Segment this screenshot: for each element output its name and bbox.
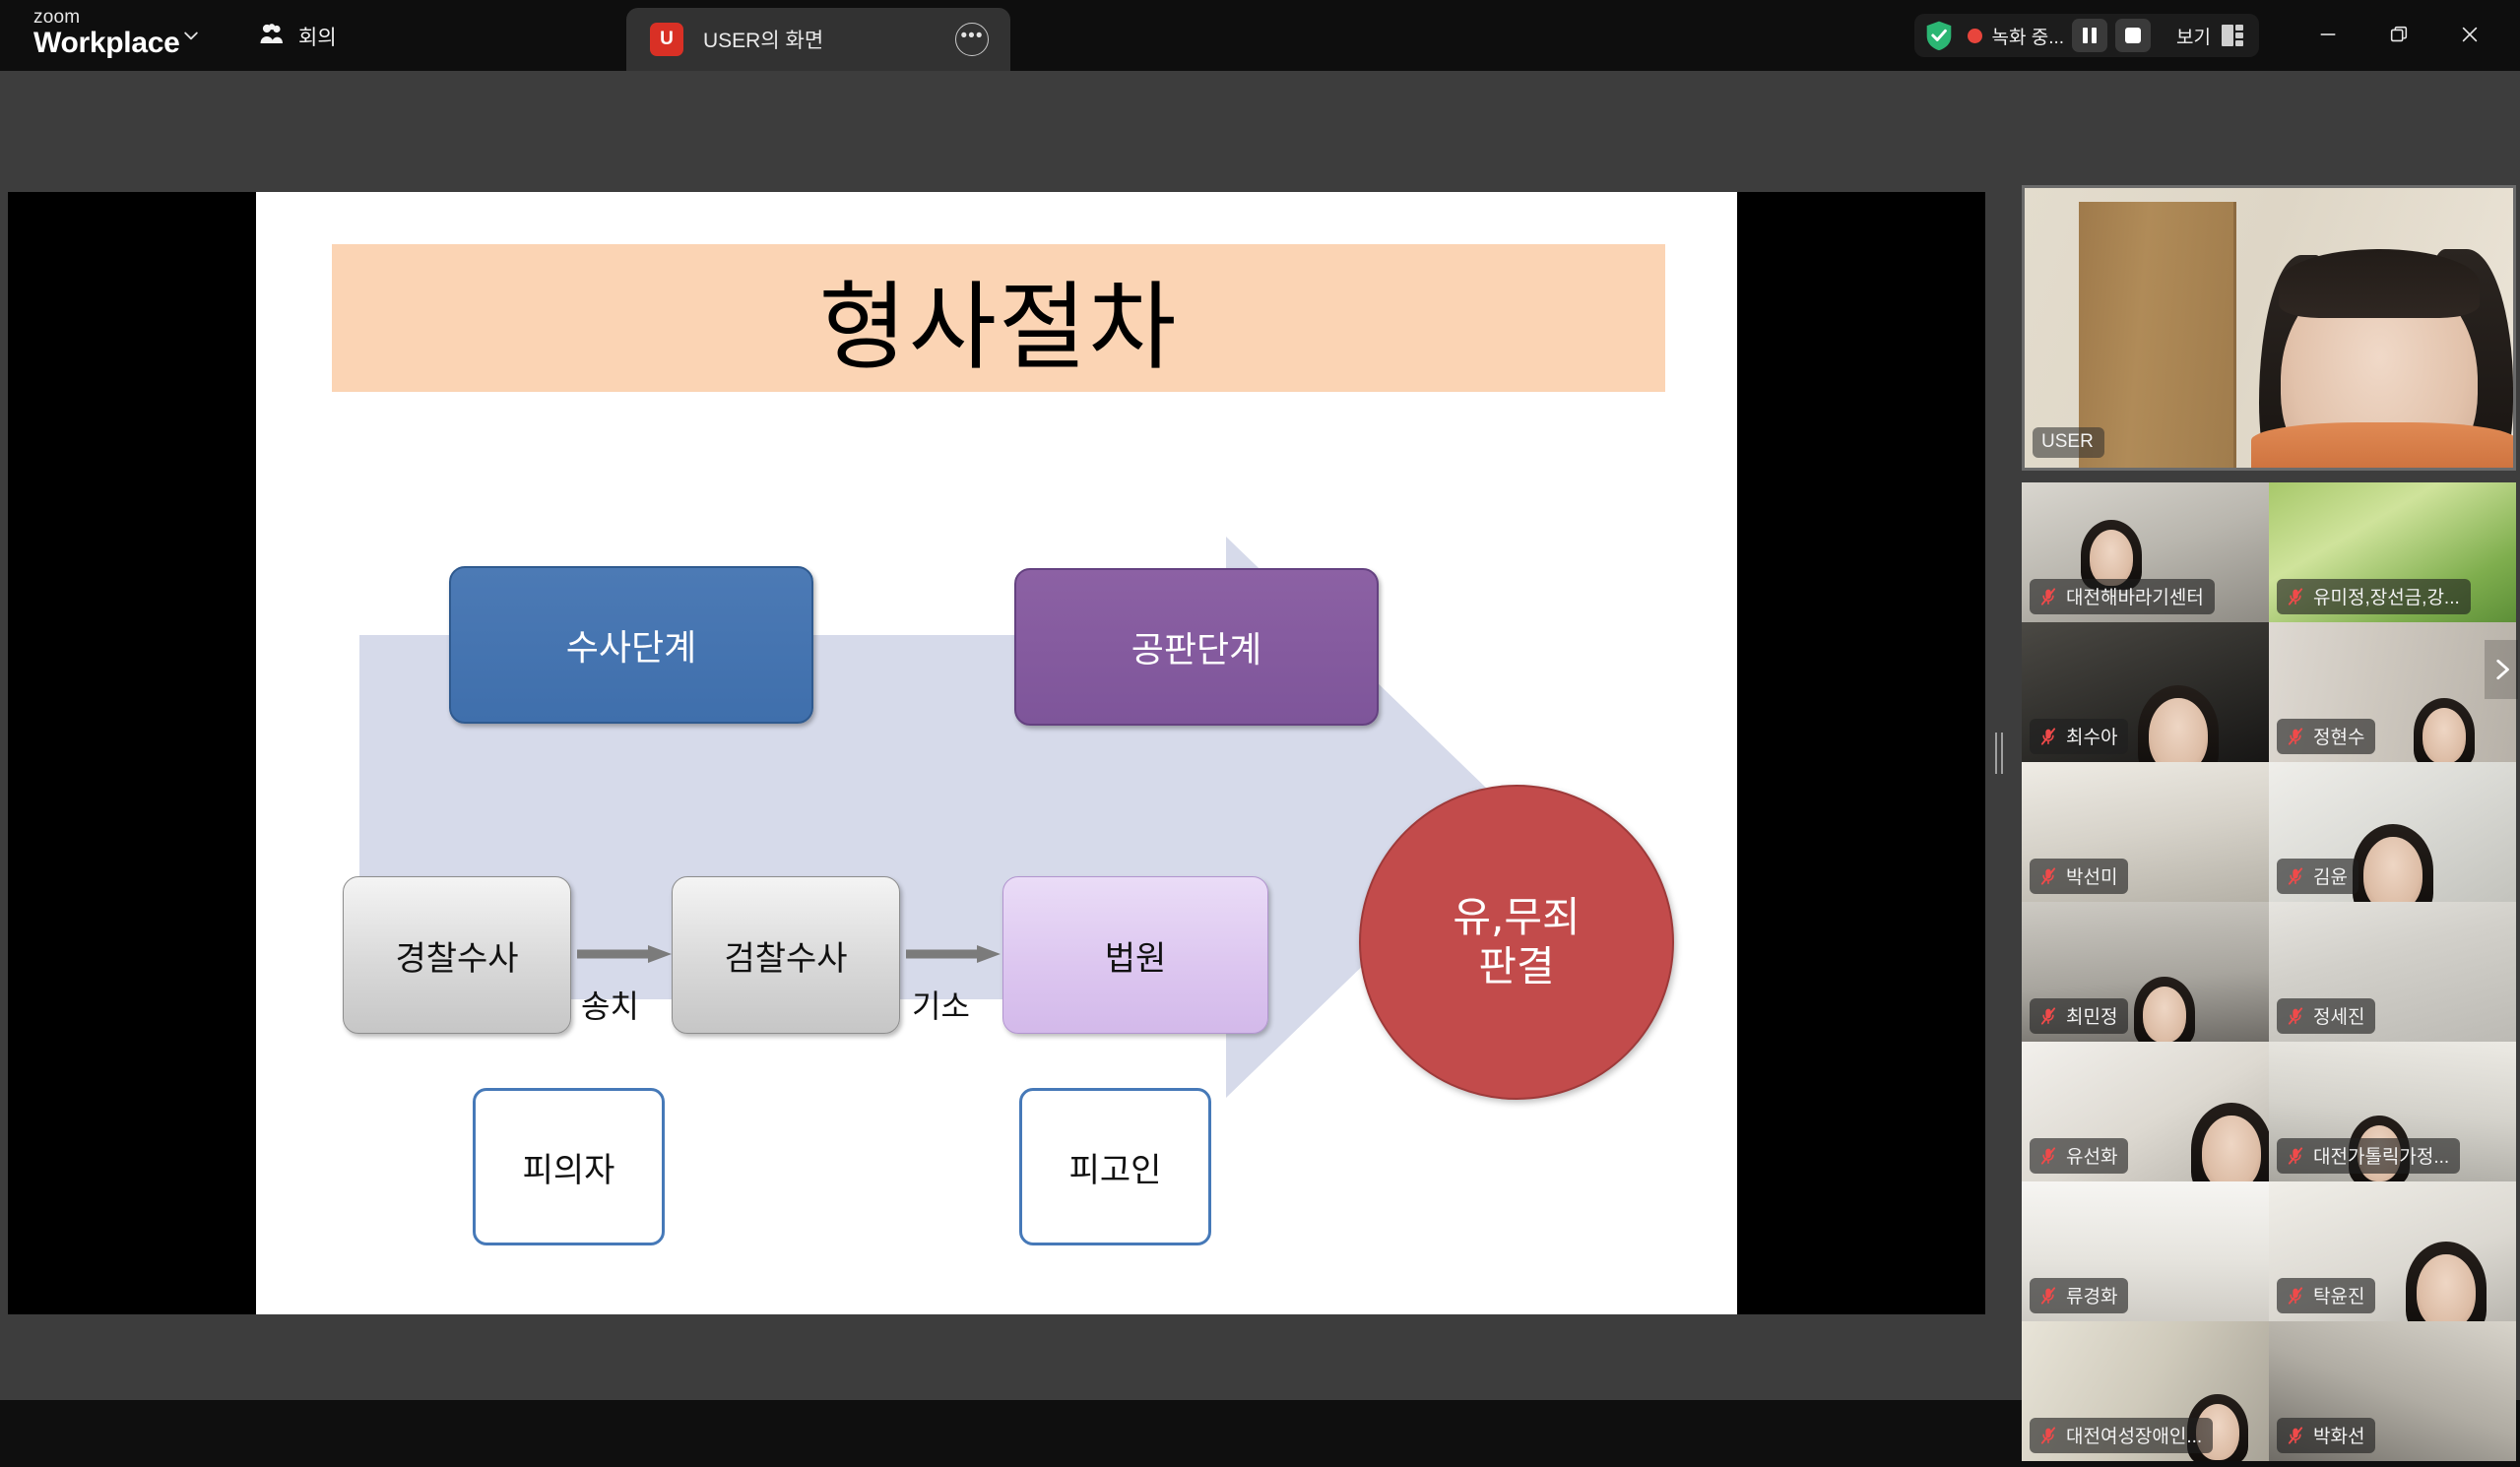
participant-tile[interactable]: 탁윤진 xyxy=(2269,1181,2516,1321)
participant-name-label: 류경화 xyxy=(2030,1278,2128,1313)
self-view-hair-top xyxy=(2279,249,2480,318)
verdict-ellipse: 유,무죄 판결 xyxy=(1359,785,1674,1100)
step-box-police: 경찰수사 xyxy=(343,876,571,1034)
participant-tile[interactable]: 대전가톨릭가정... xyxy=(2269,1042,2516,1181)
slide-title: 형사절차 xyxy=(819,249,1179,388)
muted-microphone-icon xyxy=(2038,587,2058,606)
muted-microphone-icon xyxy=(2038,1426,2058,1445)
muted-microphone-icon xyxy=(2286,1286,2305,1306)
participant-tile[interactable]: 최수아 xyxy=(2022,622,2269,762)
shield-check-icon[interactable] xyxy=(1924,20,1954,51)
participant-silhouette-face xyxy=(2423,708,2467,762)
participant-name-label: 박화선 xyxy=(2277,1418,2375,1453)
participant-tile[interactable]: 유선화 xyxy=(2022,1042,2269,1181)
recording-label: 녹화 중... xyxy=(1991,23,2064,49)
layout-grid-icon xyxy=(2222,25,2243,46)
participant-tile[interactable]: 최민정 xyxy=(2022,902,2269,1042)
participant-tile[interactable]: 유미정,장선금,강... xyxy=(2269,482,2516,622)
participant-name-text: 유미정,장선금,강... xyxy=(2313,583,2460,609)
stage-box-trial: 공판단계 xyxy=(1014,568,1379,726)
stop-recording-button[interactable] xyxy=(2115,19,2151,52)
participant-name-text: 최수아 xyxy=(2066,723,2117,749)
step-box-police-label: 경찰수사 xyxy=(395,931,518,980)
title-bar: zoom Workplace 회의 U USER의 화면 ••• xyxy=(0,0,2520,71)
flow-arrow-songchi-icon xyxy=(577,943,674,965)
meeting-stage: 형사절차 수사단계 공판단계 경찰수사 xyxy=(0,71,2520,1400)
participant-tile[interactable]: 박화선 xyxy=(2269,1321,2516,1461)
participant-name-label: 유선화 xyxy=(2030,1138,2128,1174)
chevron-down-icon[interactable] xyxy=(181,26,201,45)
role-box-suspect-label: 피의자 xyxy=(523,1143,615,1191)
maximize-button[interactable] xyxy=(2374,10,2423,59)
step-box-court: 법원 xyxy=(1002,876,1268,1034)
transition-label-songchi: 송치 xyxy=(581,982,639,1027)
participant-name-label: 박선미 xyxy=(2030,859,2128,894)
participant-silhouette-face xyxy=(2143,987,2187,1042)
participant-name-text: 박선미 xyxy=(2066,862,2117,889)
flow-arrow-giso-icon xyxy=(906,943,1002,965)
participant-silhouette-face xyxy=(2202,1116,2260,1181)
participant-name-label: 탁윤진 xyxy=(2277,1278,2375,1313)
self-view-shirt xyxy=(2251,422,2516,468)
participant-name-text: 김윤 xyxy=(2313,862,2348,889)
participant-tile[interactable]: 정현수 xyxy=(2269,622,2516,762)
role-box-defendant: 피고인 xyxy=(1019,1088,1211,1245)
transition-label-giso: 기소 xyxy=(912,982,970,1027)
criminal-procedure-diagram: 수사단계 공판단계 경찰수사 송치 검찰수사 xyxy=(256,399,1737,1314)
tab-user-screen-share[interactable]: U USER의 화면 ••• xyxy=(626,8,1010,71)
view-layout-label: 보기 xyxy=(2176,23,2211,49)
self-view-name-label: USER xyxy=(2033,427,2104,458)
role-box-suspect: 피의자 xyxy=(473,1088,665,1245)
muted-microphone-icon xyxy=(2286,1146,2305,1166)
participant-name-label: 정현수 xyxy=(2277,719,2375,754)
participant-name-label: 최민정 xyxy=(2030,998,2128,1034)
participant-tile[interactable]: 류경화 xyxy=(2022,1181,2269,1321)
participant-name-text: 최민정 xyxy=(2066,1002,2117,1029)
participant-tile[interactable]: 정세진 xyxy=(2269,902,2516,1042)
participant-silhouette-face xyxy=(2363,837,2422,902)
self-view-name-text: USER xyxy=(2041,431,2094,453)
pause-icon xyxy=(2083,28,2097,43)
muted-microphone-icon xyxy=(2286,587,2305,606)
stop-icon xyxy=(2125,28,2141,43)
participant-name-label: 정세진 xyxy=(2277,998,2375,1034)
nav-item-meetings[interactable]: 회의 xyxy=(248,16,347,57)
minimize-button[interactable] xyxy=(2303,10,2353,59)
brand-workplace-text: Workplace xyxy=(33,28,179,59)
participant-name-text: 정세진 xyxy=(2313,1002,2364,1029)
participant-name-text: 대전해바라기센터 xyxy=(2066,583,2204,609)
muted-microphone-icon xyxy=(2286,866,2305,886)
close-button[interactable] xyxy=(2445,10,2494,59)
presentation-slide: 형사절차 수사단계 공판단계 경찰수사 xyxy=(256,192,1737,1314)
participant-name-text: 박화선 xyxy=(2313,1422,2364,1448)
nav-item-meetings-label: 회의 xyxy=(298,22,337,51)
slide-title-banner: 형사절차 xyxy=(332,244,1665,392)
participant-tile[interactable]: 박선미 xyxy=(2022,762,2269,902)
pause-recording-button[interactable] xyxy=(2072,19,2107,52)
participant-silhouette-face xyxy=(2417,1254,2475,1321)
participant-name-text: 정현수 xyxy=(2313,723,2364,749)
record-dot-icon xyxy=(1968,29,1982,43)
verdict-line-1: 유,무죄 xyxy=(1453,893,1580,942)
step-box-prosecution-label: 검찰수사 xyxy=(724,931,847,980)
stage-box-investigation-label: 수사단계 xyxy=(566,619,696,670)
step-box-court-label: 법원 xyxy=(1105,931,1167,980)
tab-title: USER의 화면 xyxy=(703,25,955,54)
step-box-prosecution: 검찰수사 xyxy=(672,876,900,1034)
zoom-brand-logo: zoom Workplace xyxy=(33,8,179,58)
more-options-icon[interactable]: ••• xyxy=(955,23,989,56)
next-page-chevron-icon[interactable] xyxy=(2485,640,2518,699)
self-view-tile[interactable]: USER xyxy=(2022,185,2516,471)
participant-name-label: 김윤 xyxy=(2277,859,2358,894)
participant-name-text: 대전여성장애인... xyxy=(2066,1422,2202,1448)
brand-zoom-text: zoom xyxy=(33,8,179,28)
panel-resize-handle[interactable] xyxy=(1985,192,2013,1314)
participant-name-label: 대전가톨릭가정... xyxy=(2277,1138,2460,1174)
muted-microphone-icon xyxy=(2286,727,2305,746)
participant-name-label: 최수아 xyxy=(2030,719,2128,754)
view-layout-button[interactable]: 보기 xyxy=(2176,23,2243,49)
participant-tile[interactable]: 대전여성장애인... xyxy=(2022,1321,2269,1461)
muted-microphone-icon xyxy=(2038,1286,2058,1306)
muted-microphone-icon xyxy=(2038,727,2058,746)
verdict-line-2: 판결 xyxy=(1478,942,1554,991)
participant-name-text: 류경화 xyxy=(2066,1282,2117,1308)
muted-microphone-icon xyxy=(2286,1006,2305,1026)
stage-box-trial-label: 공판단계 xyxy=(1131,621,1261,672)
role-box-defendant-label: 피고인 xyxy=(1069,1143,1162,1191)
muted-microphone-icon xyxy=(2038,1006,2058,1026)
window-status-controls: 녹화 중... 보기 xyxy=(1914,14,2259,57)
participant-name-text: 탁윤진 xyxy=(2313,1282,2364,1308)
people-icon xyxy=(258,23,286,51)
participant-tile-grid: 대전해바라기센터유미정,장선금,강...최수아정현수박선미김윤최민정정세진유선화… xyxy=(2022,482,2516,1463)
muted-microphone-icon xyxy=(2038,866,2058,886)
stage-box-investigation: 수사단계 xyxy=(449,566,813,724)
participant-silhouette-face xyxy=(2090,530,2134,586)
recording-status[interactable]: 녹화 중... xyxy=(1968,23,2064,49)
participant-name-text: 대전가톨릭가정... xyxy=(2313,1142,2449,1169)
participant-name-label: 유미정,장선금,강... xyxy=(2277,579,2471,614)
participant-name-text: 유선화 xyxy=(2066,1142,2117,1169)
muted-microphone-icon xyxy=(2038,1146,2058,1166)
participant-tile[interactable]: 김윤 xyxy=(2269,762,2516,902)
video-panel: USER 대전해바라기센터유미정,장선금,강...최수아정현수박선미김윤최민정정… xyxy=(2018,114,2520,1467)
shared-screen-area[interactable]: 형사절차 수사단계 공판단계 경찰수사 xyxy=(8,192,1985,1314)
muted-microphone-icon xyxy=(2286,1426,2305,1445)
participant-name-label: 대전해바라기센터 xyxy=(2030,579,2215,614)
participant-silhouette-face xyxy=(2149,698,2207,762)
participant-name-label: 대전여성장애인... xyxy=(2030,1418,2213,1453)
avatar: U xyxy=(650,23,683,56)
participant-tile[interactable]: 대전해바라기센터 xyxy=(2022,482,2269,622)
